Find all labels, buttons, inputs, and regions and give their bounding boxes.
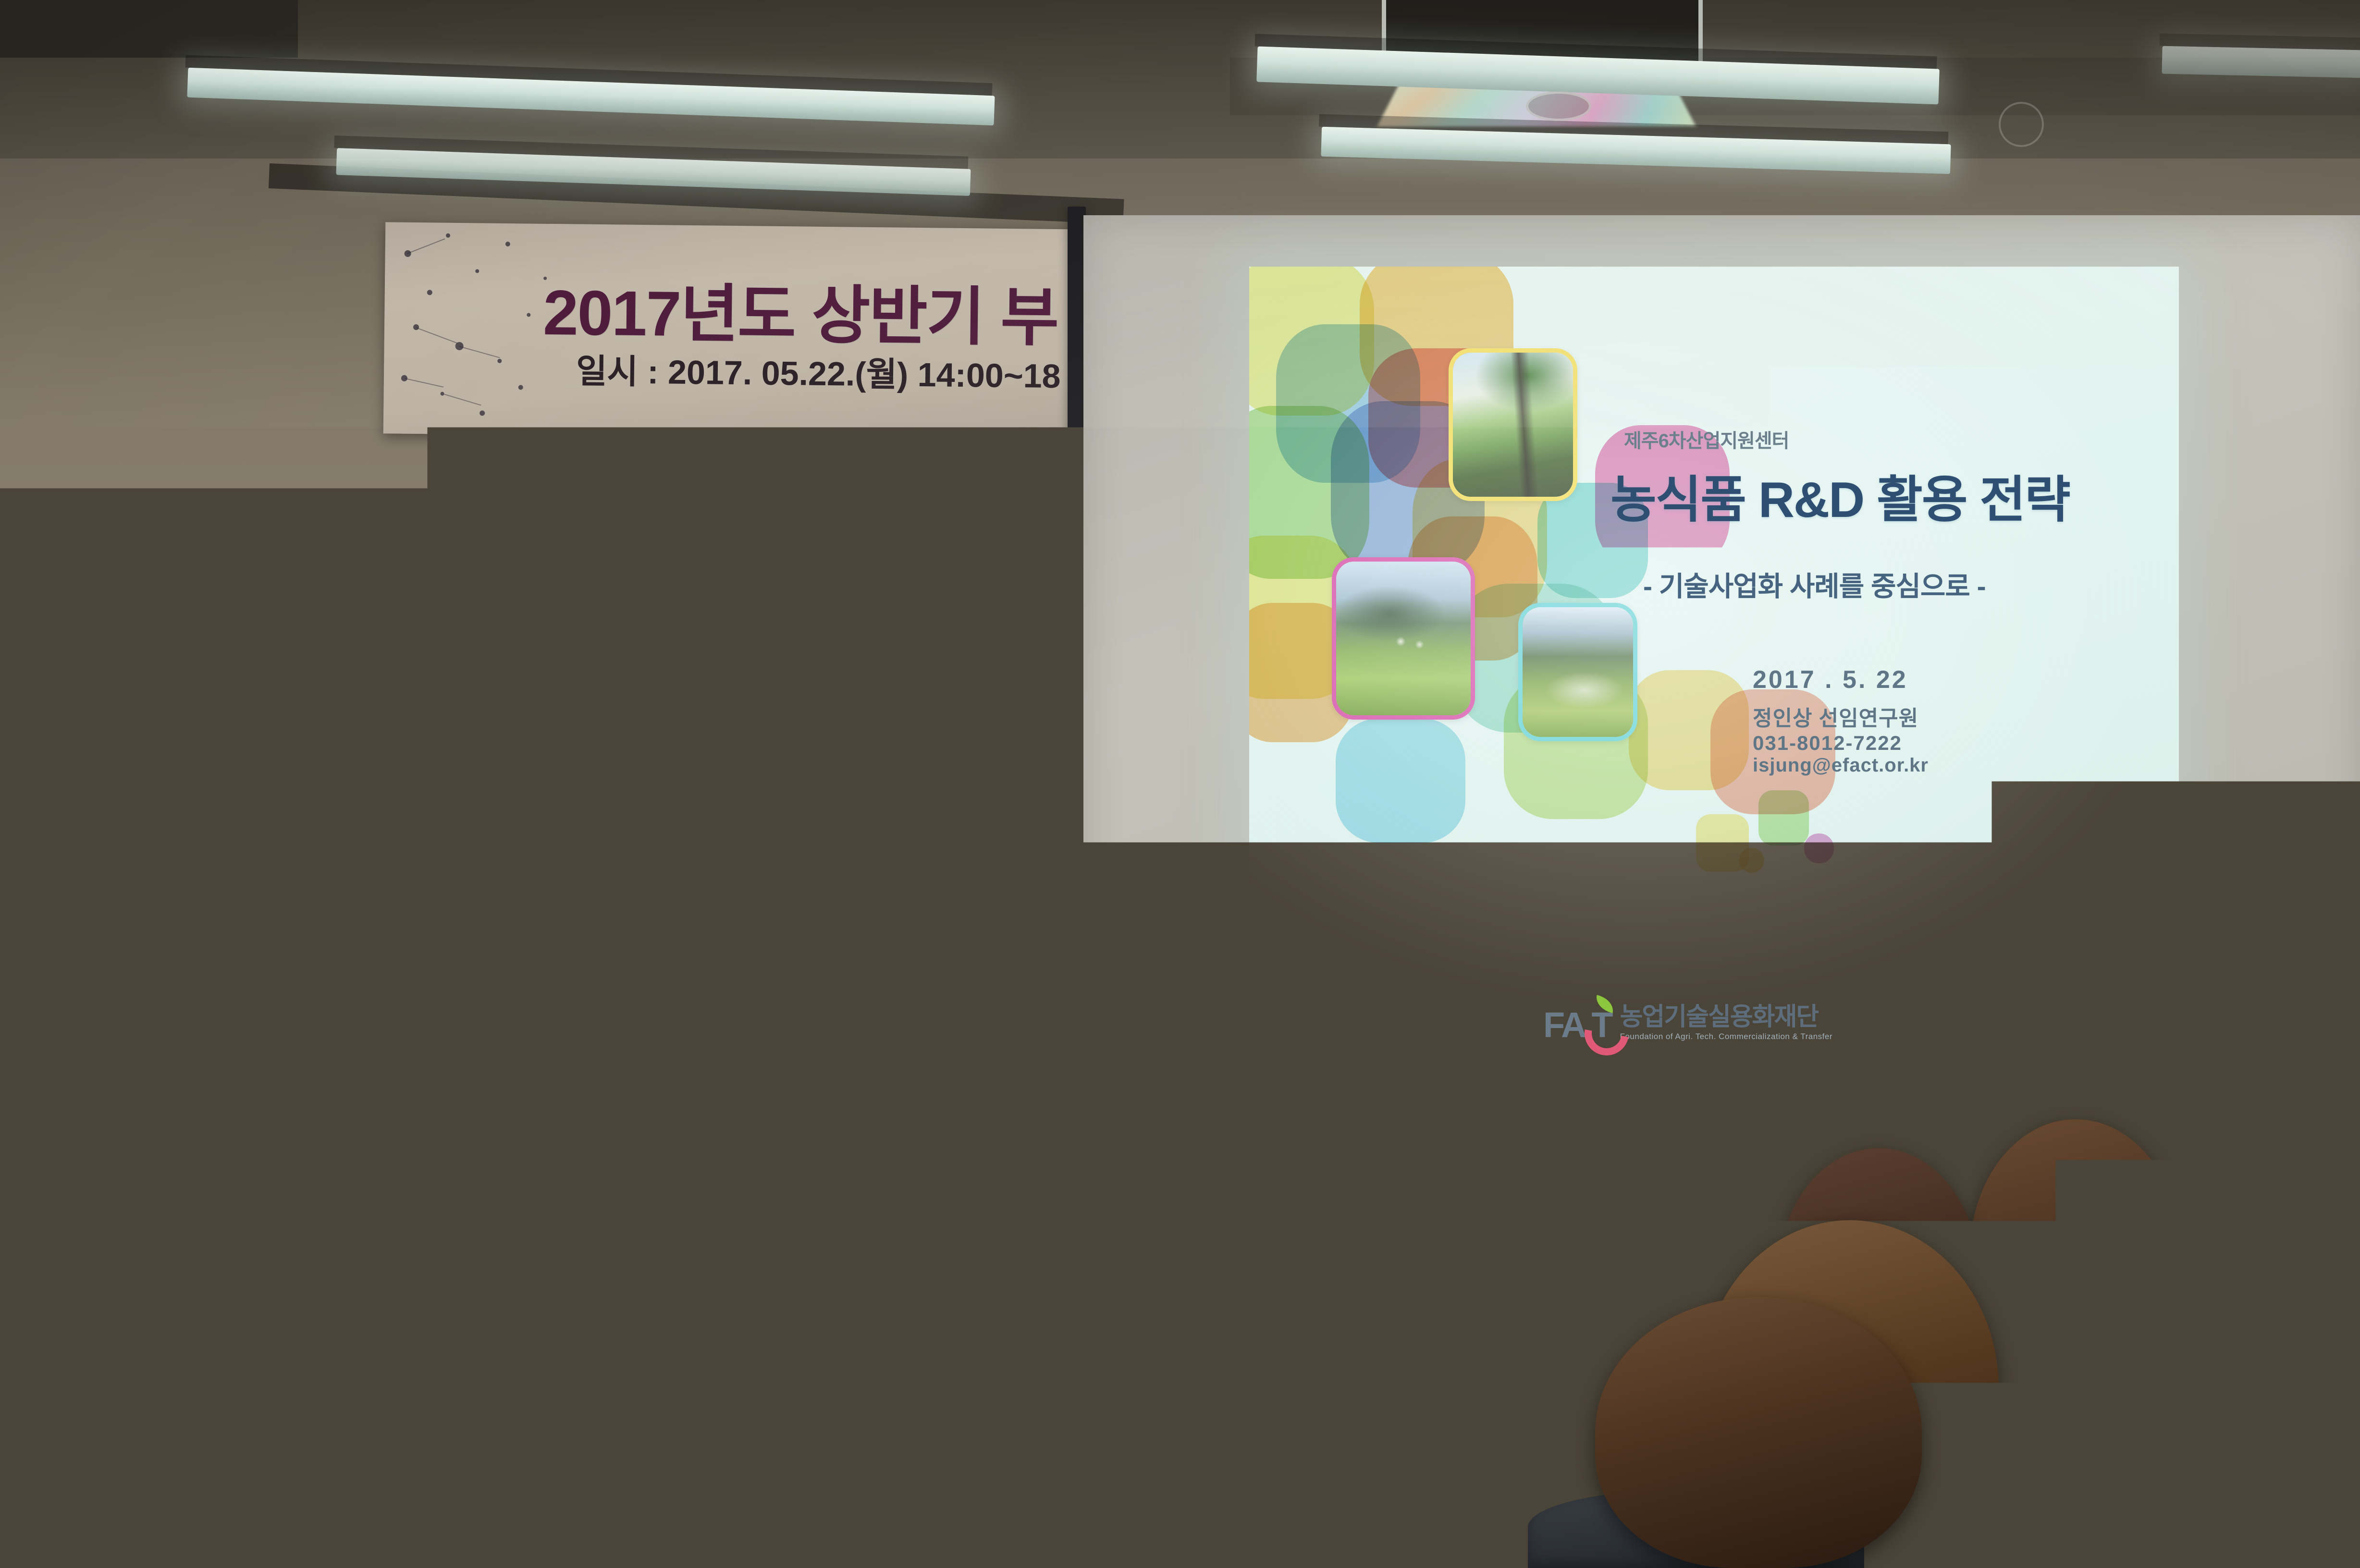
handout-paper[interactable] — [567, 1504, 677, 1534]
bottle-label — [1379, 1422, 1425, 1443]
presentation-slide: 제주6차산업지원센터 농식품 R&D 활용 전략 - 기술사업화 사례를 중심으… — [1249, 267, 2179, 1102]
slide-email: isjung@efact.or.kr — [1753, 755, 1929, 776]
slide-eyebrow: 제주6차산업지원센터 — [1624, 425, 1789, 453]
trigram-bar — [259, 775, 332, 794]
slide-phone: 031-8012-7222 — [1753, 732, 1929, 755]
audience-head — [1062, 1187, 1345, 1504]
fact-korean-name: 농업기술실용화재단 — [1620, 1004, 1832, 1029]
switch-rocker-icon — [594, 564, 604, 586]
laptop-screen[interactable] — [323, 1028, 527, 1145]
ceiling-speaker — [1526, 91, 1591, 121]
slide-decor-block — [1739, 848, 1764, 873]
fact-wordmark: FA T — [1543, 1009, 1611, 1041]
slide-decor-block — [1336, 718, 1465, 843]
ceiling-light-strip — [2162, 46, 2360, 78]
wall-panel-seam — [0, 516, 1081, 519]
jri-text-group: JRI 제주연구원 Jeju Research Institute — [400, 1247, 525, 1295]
audience-head — [159, 1340, 447, 1568]
bottle-cap-icon — [348, 1299, 368, 1312]
presenter-hand — [643, 922, 705, 995]
fact-logo: FA T 농업기술실용화재단 Foundation of Agri. Tech.… — [1543, 1004, 1832, 1041]
indicator-led-icon — [612, 554, 621, 565]
microphone-accent-ring — [647, 1018, 676, 1031]
slide-photo-tile-village — [1332, 557, 1475, 720]
banner-subtitle: 일시 : 2017. 05.22.(월) 14:00~18 — [576, 344, 1061, 398]
banner-title: 2017년도 상반기 부 — [543, 261, 1059, 358]
fact-english-name: Foundation of Agri. Tech. Commercializat… — [1620, 1032, 1832, 1041]
fact-name-block: 농업기술실용화재단 Foundation of Agri. Tech. Comm… — [1620, 1004, 1832, 1041]
slide-title: 농식품 R&D 활용 전략 — [1610, 459, 2070, 531]
ceiling-beam — [0, 0, 298, 58]
flagpole-finial — [240, 572, 276, 607]
presenter-mouth — [640, 882, 660, 894]
podium-logo-sign: JRI 제주연구원 Jeju Research Institute — [352, 1230, 525, 1311]
audience-head — [1970, 1119, 2181, 1388]
audience-hair-bun — [778, 1167, 918, 1259]
water-bottle[interactable] — [279, 1076, 311, 1134]
leaf-icon — [1594, 995, 1615, 1014]
slide-presenter: 정인상 선임연구원 — [1753, 701, 1929, 732]
slide-meta-block: 2017 . 5. 22 정인상 선임연구원 031-8012-7222 isj… — [1753, 665, 1929, 776]
glasses-bridge — [637, 845, 648, 848]
glasses-icon — [601, 836, 688, 862]
slide-date: 2017 . 5. 22 — [1753, 665, 1929, 694]
bottle-cap-icon — [285, 1064, 305, 1077]
slide-subtitle: - 기술사업화 사례를 중심으로 - — [1643, 564, 1986, 604]
bottle-label — [279, 1100, 311, 1121]
presenter-hair — [585, 767, 715, 847]
event-banner: 2017년도 상반기 부 일시 : 2017. 05.22.(월) 14:00~… — [383, 222, 1087, 441]
slide-decor-block — [1804, 833, 1834, 863]
audience-head — [1595, 1297, 1922, 1568]
audience-head — [77, 1062, 235, 1254]
blue-sign-label: 제주연구원 — [153, 701, 218, 726]
slide-photo-tile-farm — [1518, 603, 1637, 741]
laptop-base — [317, 1135, 529, 1147]
glasses-lens-left — [601, 836, 643, 867]
jri-arc-icon — [352, 1258, 394, 1284]
slide-photo-tile-road — [1449, 348, 1577, 501]
glasses-lens-right — [648, 836, 690, 867]
lecture-hall-photo: 2017년도 상반기 부 일시 : 2017. 05.22.(월) 14:00~… — [0, 0, 2360, 1568]
slide-decor-block — [1758, 790, 1809, 845]
wall-switch-plate[interactable] — [572, 548, 627, 602]
ceiling-smoke-detector — [1999, 102, 2044, 147]
bottle-neck — [2274, 1352, 2290, 1360]
bottle-neck — [1394, 1347, 1410, 1356]
trigram-bar — [258, 751, 331, 770]
water-bottle[interactable] — [1379, 1350, 1425, 1456]
trigram-bar — [261, 799, 334, 818]
